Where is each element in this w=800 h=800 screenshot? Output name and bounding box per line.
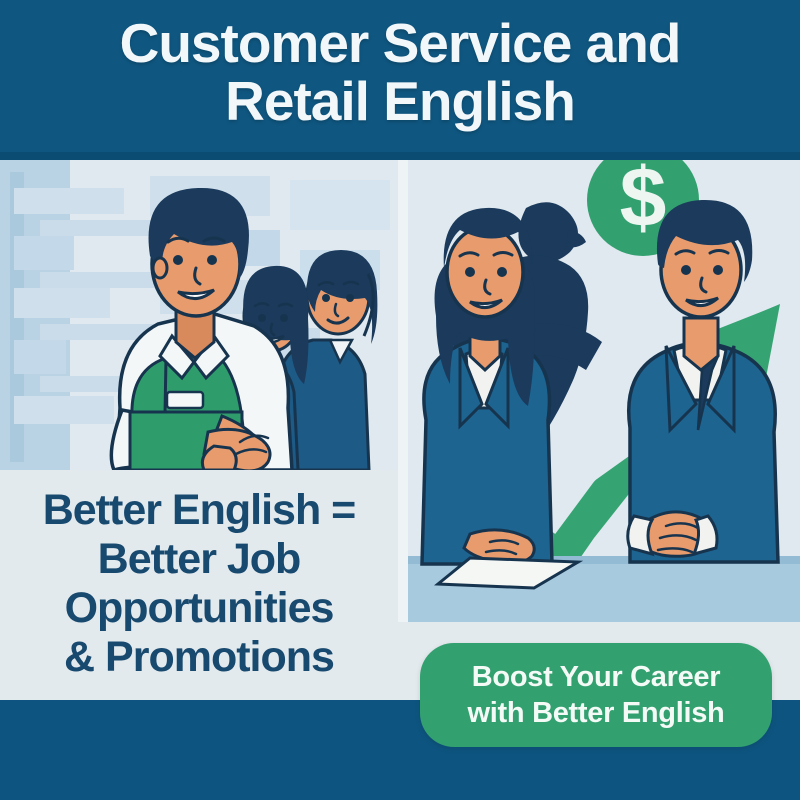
tagline-line-3: Opportunities bbox=[0, 584, 398, 633]
page-title-line-1: Customer Service and bbox=[120, 14, 681, 72]
left-illustration-panel bbox=[0, 160, 398, 470]
tagline-line-2: Better Job bbox=[0, 535, 398, 584]
panel-divider bbox=[398, 160, 408, 622]
poster-canvas: $ bbox=[0, 0, 800, 800]
tagline-line-1: Better English = bbox=[0, 486, 398, 535]
right-illustration-panel: $ bbox=[408, 160, 800, 622]
tagline-block: Better English = Better Job Opportunitie… bbox=[0, 486, 398, 682]
page-title-line-2: Retail English bbox=[225, 72, 575, 130]
career-growth-illustration: $ bbox=[408, 160, 800, 622]
handshake-hands bbox=[202, 429, 270, 470]
retail-handshake-illustration bbox=[0, 160, 398, 470]
name-tag bbox=[167, 392, 203, 408]
header-banner: Customer Service and Retail English bbox=[0, 0, 800, 158]
cta-label-line-1: Boost Your Career bbox=[472, 659, 720, 695]
tagline-line-4: & Promotions bbox=[0, 633, 398, 682]
cta-label-line-2: with Better English bbox=[468, 695, 725, 731]
header-underline bbox=[0, 152, 800, 160]
cta-button[interactable]: Boost Your Career with Better English bbox=[420, 643, 772, 747]
